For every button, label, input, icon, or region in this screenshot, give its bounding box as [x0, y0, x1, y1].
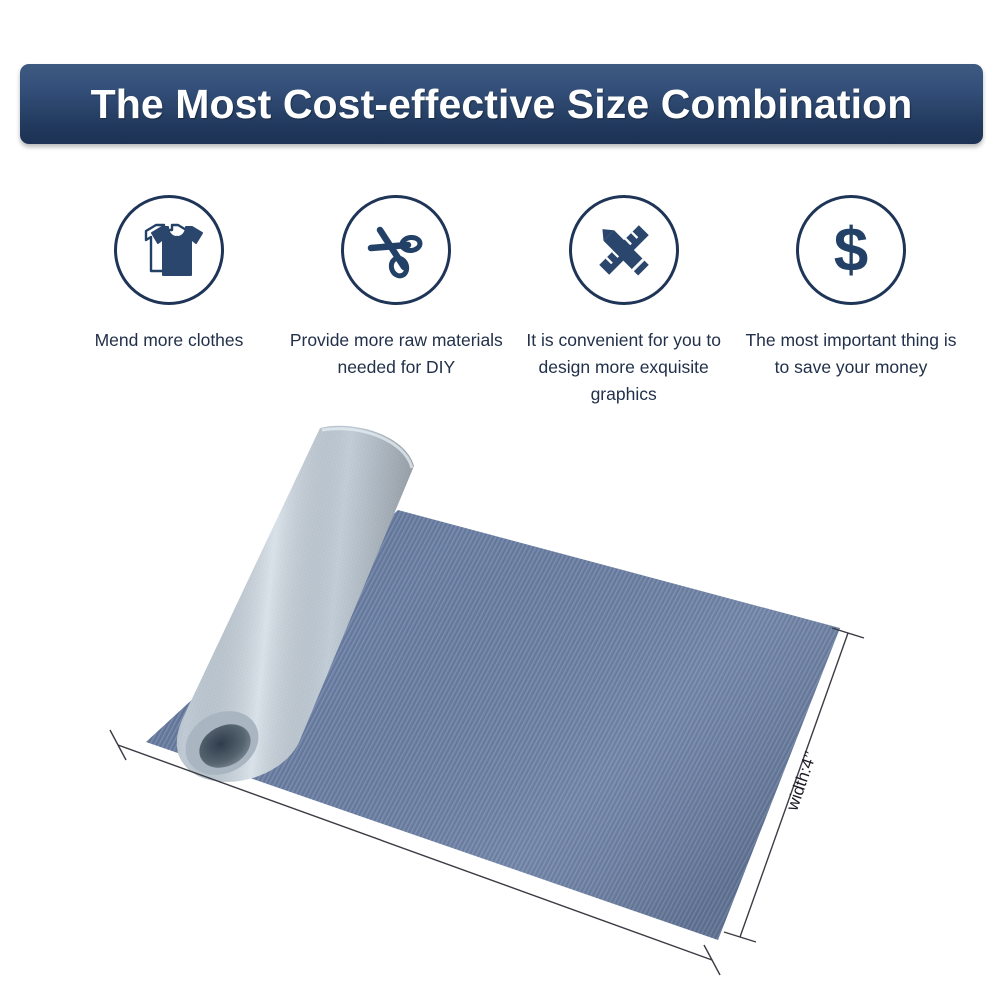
feature-item-raw-materials: Provide more raw materials needed for DI…	[287, 195, 505, 381]
feature-caption: Mend more clothes	[95, 327, 244, 354]
feature-icon-circle	[569, 195, 679, 305]
feature-caption: The most important thing is to save your…	[742, 327, 960, 381]
feature-list: Mend more clothes Pr	[60, 195, 960, 408]
feature-icon-circle	[114, 195, 224, 305]
tshirts-icon	[134, 219, 204, 281]
length-start-tick	[110, 730, 126, 760]
feature-caption: Provide more raw materials needed for DI…	[287, 327, 505, 381]
feature-icon-circle	[341, 195, 451, 305]
width-end-tick	[724, 932, 756, 942]
pencil-ruler-icon	[591, 217, 657, 283]
feature-item-save-money: $ The most important thing is to save yo…	[742, 195, 960, 381]
feature-item-mend-clothes: Mend more clothes	[60, 195, 278, 354]
feature-item-design-graphics: It is convenient for you to design more …	[515, 195, 733, 408]
scissors-icon	[363, 217, 429, 283]
feature-caption: It is convenient for you to design more …	[515, 327, 733, 408]
feature-icon-circle: $	[796, 195, 906, 305]
page-title: The Most Cost-effective Size Combination	[91, 81, 913, 128]
denim-roll-illustration	[0, 400, 1000, 1000]
length-end-tick	[704, 945, 720, 975]
dollar-sign-icon: $	[820, 215, 882, 285]
header-banner: The Most Cost-effective Size Combination	[20, 64, 983, 144]
product-infographic: The Most Cost-effective Size Combination…	[0, 0, 1000, 1000]
svg-text:$: $	[834, 216, 868, 285]
product-image: length:60’’	[0, 400, 1000, 1000]
